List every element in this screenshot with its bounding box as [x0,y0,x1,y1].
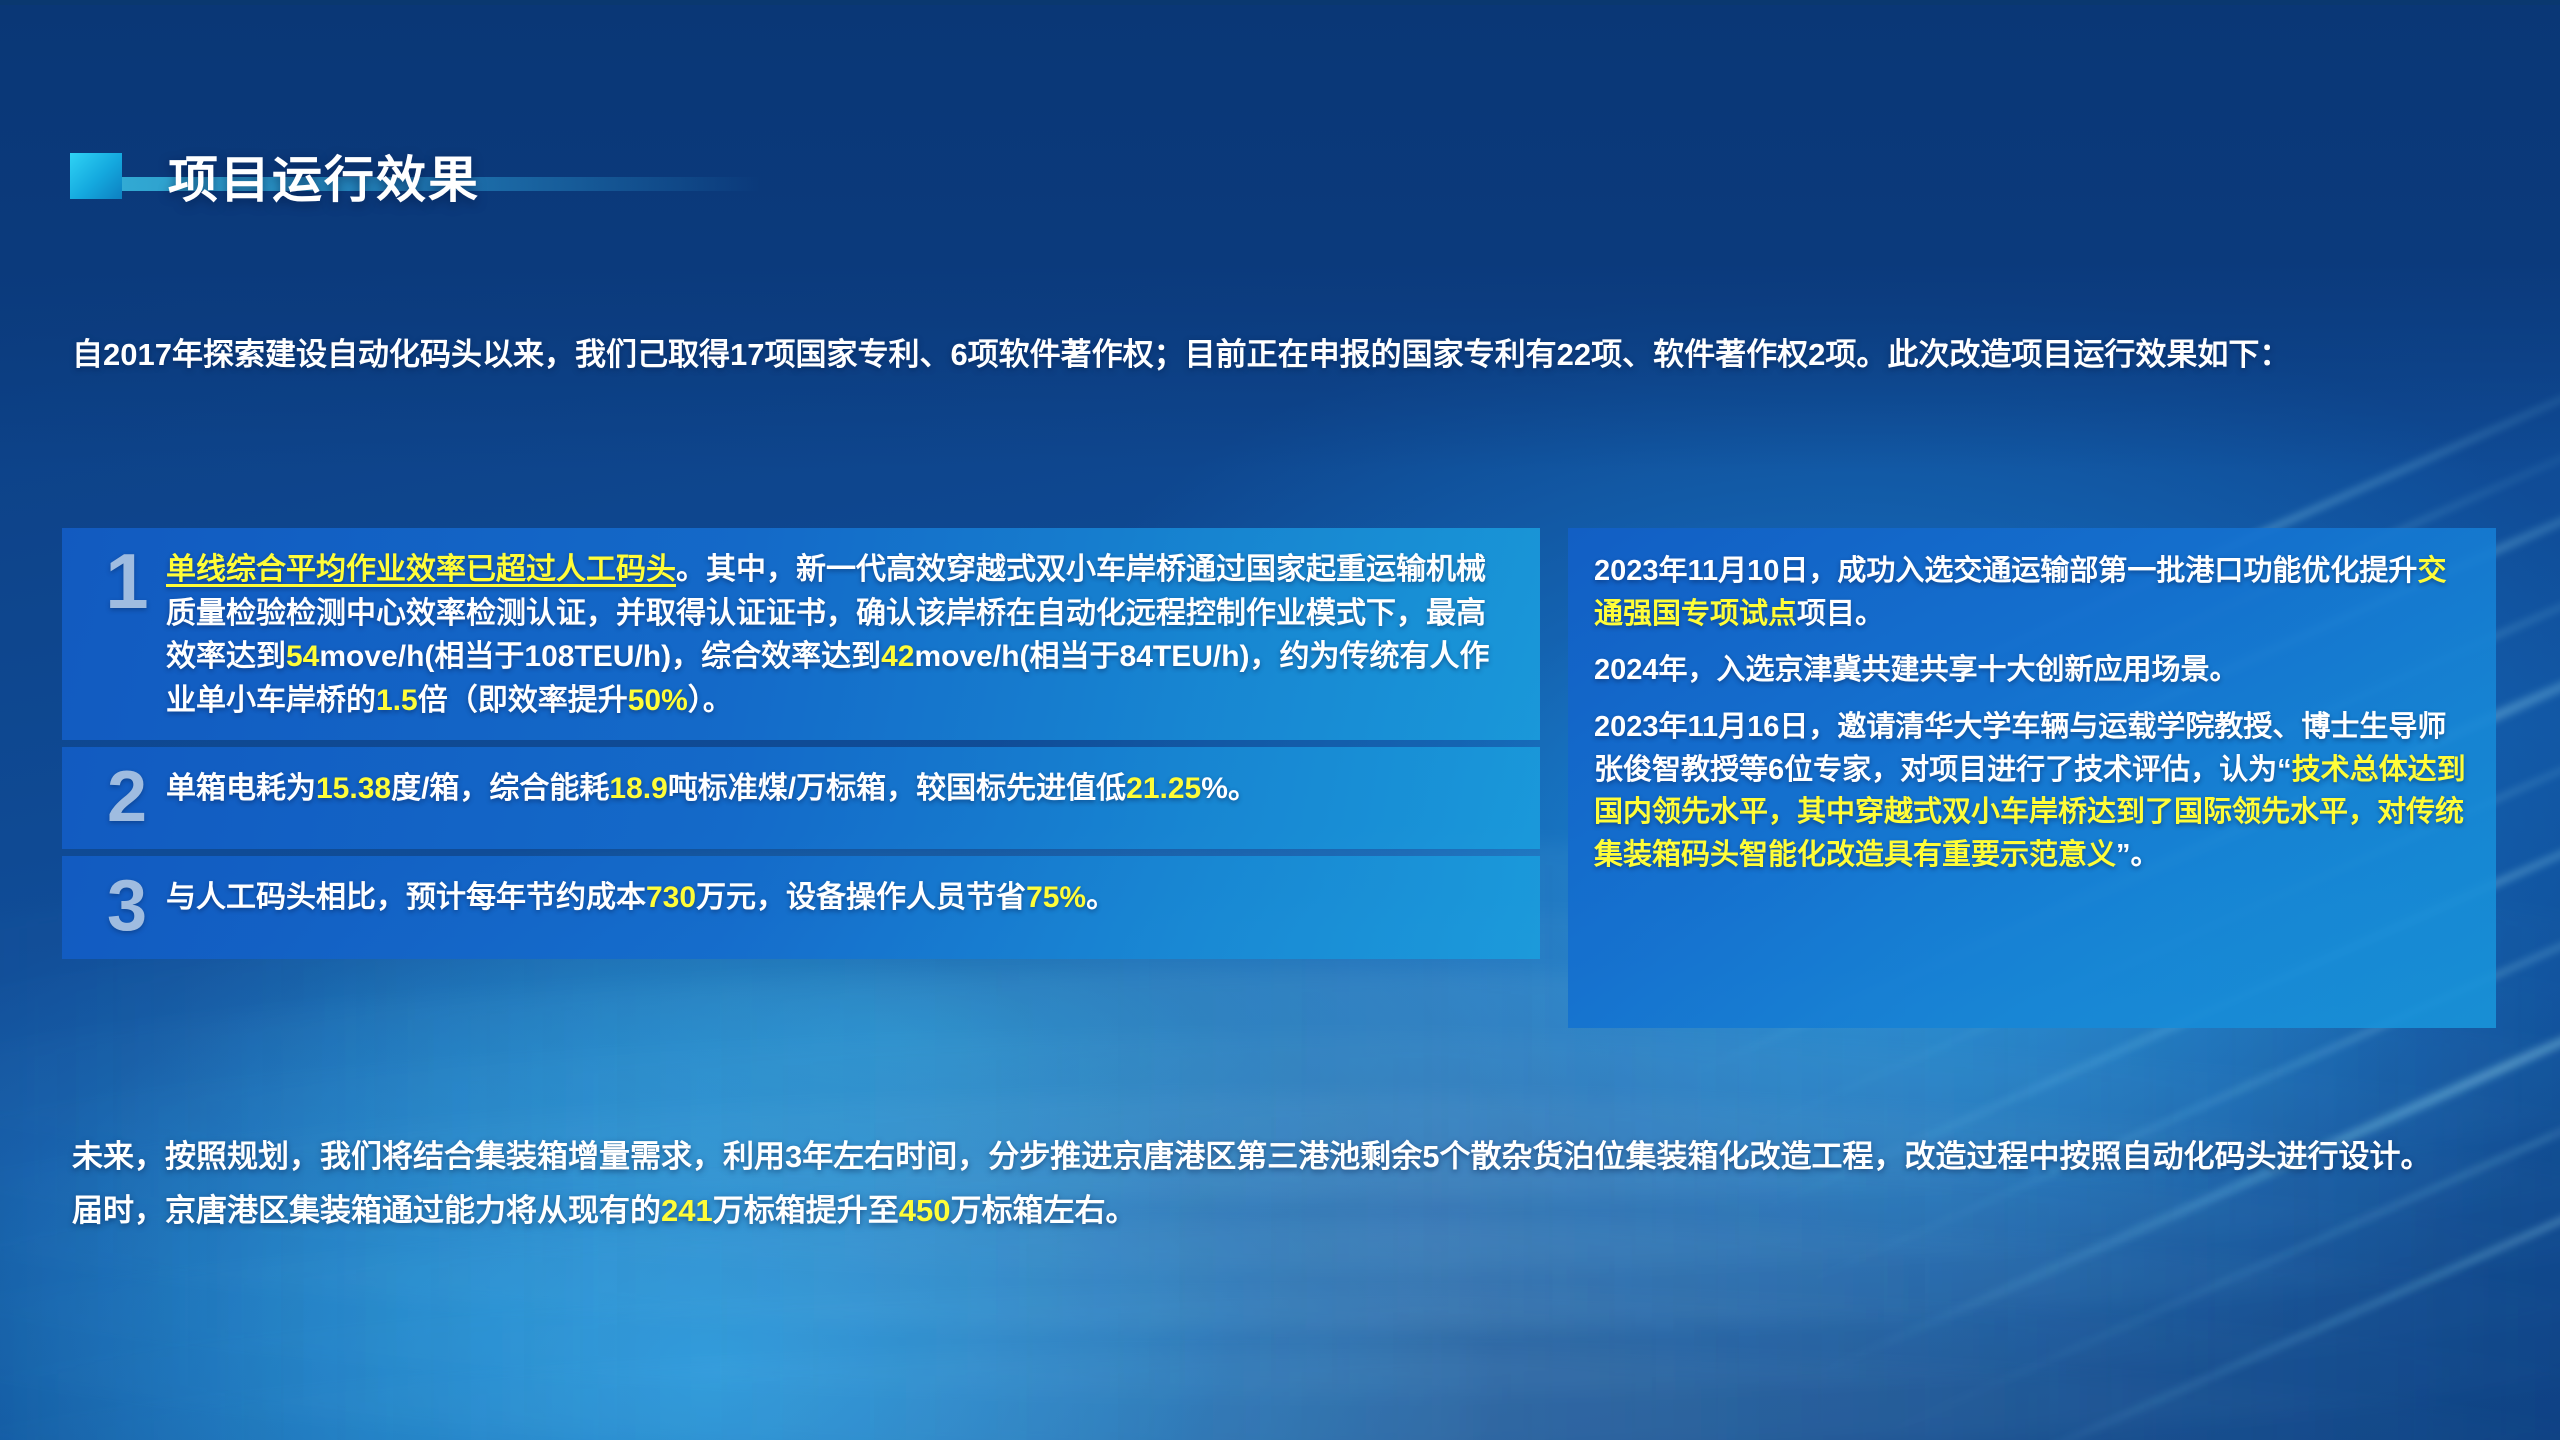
item-number: 1 [88,544,166,618]
achievement-text-1: 2023年11月10日，成功入选交通运输部第一批港口功能优化提升 [1594,555,2417,587]
item-text-3: 。 [1086,881,1116,914]
item-text: 单箱电耗为15.38度/箱，综合能耗18.9吨标准煤/万标箱，较国标先进值低21… [166,763,1514,811]
item-value-3: 1.5 [376,684,418,717]
item-value-4: 50% [628,684,688,717]
item-text-1: 单箱电耗为 [166,772,316,805]
item-text-2: 度/箱，综合能耗 [391,772,609,805]
outlook-value-2: 450 [899,1193,951,1228]
outlook-text-1: 届时，京唐港区集装箱通过能力将从现有的 [72,1193,661,1228]
item-lead-highlight: 单线综合平均作业效率已超过人工码头 [166,553,676,586]
item-text-4: %。 [1201,772,1258,805]
achievements-panel[interactable]: 2023年11月10日，成功入选交通运输部第一批港口功能优化提升交通强国专项试点… [1568,528,2496,1028]
outlook-section: 未来，按照规划，我们将结合集装箱增量需求，利用3年左右时间，分步推进京唐港区第三… [72,1132,2492,1236]
item-value-3: 21.25 [1126,772,1201,805]
outlook-text-3: 万标箱左右。 [950,1193,1136,1228]
results-list: 1 单线综合平均作业效率已超过人工码头。其中，新一代高效穿越式双小车岸桥通过国家… [62,528,1540,959]
item-text-2: 万元，设备操作人员节省 [696,881,1026,914]
list-item[interactable]: 1 单线综合平均作业效率已超过人工码头。其中，新一代高效穿越式双小车岸桥通过国家… [62,528,1540,740]
item-value-2: 18.9 [609,772,667,805]
list-item[interactable]: 2 单箱电耗为15.38度/箱，综合能耗18.9吨标准煤/万标箱，较国标先进值低… [62,747,1540,849]
achievement-text-1: 2024年，入选京津冀共建共享十大创新应用场景。 [1594,654,2239,686]
outlook-text-2: 万标箱提升至 [713,1193,899,1228]
item-text: 单线综合平均作业效率已超过人工码头。其中，新一代高效穿越式双小车岸桥通过国家起重… [166,544,1514,722]
item-text-1: 与人工码头相比，预计每年节约成本 [166,881,646,914]
item-text-3: 吨标准煤/万标箱，较国标先进值低 [668,772,1126,805]
title-square-icon [70,153,144,199]
achievement-text-2: ”。 [2116,839,2160,871]
item-value-1: 15.38 [316,772,391,805]
item-text-5: ）。 [688,684,733,717]
item-number: 3 [88,872,166,940]
item-value-1: 54 [286,640,319,673]
item-text-4: 倍（即效率提升 [418,684,628,717]
achievement-item: 2024年，入选京津冀共建共享十大创新应用场景。 [1594,649,2470,692]
outlook-paragraph-2: 届时，京唐港区集装箱通过能力将从现有的241万标箱提升至450万标箱左右。 [72,1186,2492,1236]
item-text: 与人工码头相比，预计每年节约成本730万元，设备操作人员节省75%。 [166,872,1514,920]
item-text-2: move/h(相当于108TEU/h)，综合效率达到 [319,640,881,673]
item-value-2: 42 [881,640,914,673]
outlook-paragraph-1: 未来，按照规划，我们将结合集装箱增量需求，利用3年左右时间，分步推进京唐港区第三… [72,1132,2492,1182]
item-value-1: 730 [646,881,696,914]
list-item[interactable]: 3 与人工码头相比，预计每年节约成本730万元，设备操作人员节省75%。 [62,856,1540,958]
page-title-row: 项目运行效果 [70,140,480,212]
achievement-item: 2023年11月16日，邀请清华大学车辆与运载学院教授、博士生导师张俊智教授等6… [1594,706,2470,877]
intro-paragraph: 自2017年探索建设自动化码头以来，我们己取得17项国家专利、6项软件著作权；目… [72,330,2492,380]
achievement-text-2: 项目。 [1797,598,1884,630]
page-title: 项目运行效果 [168,140,480,212]
outlook-value-1: 241 [661,1193,713,1228]
item-value-2: 75% [1026,881,1086,914]
achievement-item: 2023年11月10日，成功入选交通运输部第一批港口功能优化提升交通强国专项试点… [1594,550,2470,635]
item-number: 2 [88,763,166,831]
